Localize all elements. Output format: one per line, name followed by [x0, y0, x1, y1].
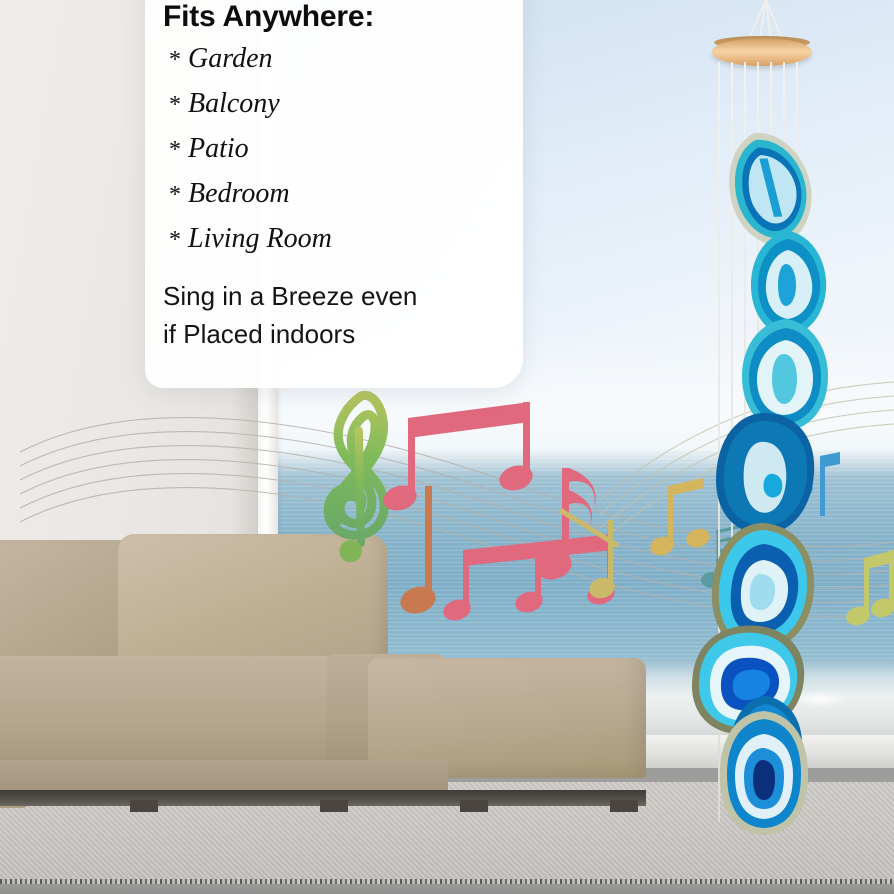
bullet-marker: * — [169, 227, 181, 253]
agate-slice — [708, 410, 826, 538]
sofa-leg — [320, 800, 348, 812]
list-item-label: Patio — [188, 133, 249, 164]
wind-chime — [690, 0, 860, 830]
tagline: Sing in a Breeze even if Placed indoors — [163, 277, 511, 353]
list-item: *Balcony — [169, 83, 523, 126]
sectional-sofa — [0, 528, 660, 828]
tagline-line-2: if Placed indoors — [163, 319, 355, 349]
product-lifestyle-image: Fits Anywhere: *Garden *Balcony *Patio *… — [0, 0, 894, 894]
tagline-line-1: Sing in a Breeze even — [163, 281, 417, 311]
agate-slice — [712, 708, 816, 838]
sofa-leg — [130, 800, 158, 812]
feature-list: *Garden *Balcony *Patio *Bedroom *Living… — [145, 38, 523, 261]
list-item-label: Garden — [188, 43, 273, 74]
sofa-leg — [460, 800, 488, 812]
list-item: *Bedroom — [169, 173, 523, 216]
feature-text-card: Fits Anywhere: *Garden *Balcony *Patio *… — [145, 0, 523, 388]
sofa-seat-left — [0, 656, 338, 766]
bullet-marker: * — [169, 182, 181, 208]
list-item: *Garden — [169, 38, 523, 81]
list-item-label: Balcony — [188, 88, 280, 119]
list-item-label: Bedroom — [188, 178, 290, 209]
list-item-label: Living Room — [188, 223, 332, 254]
list-item: *Patio — [169, 128, 523, 171]
floor — [0, 884, 894, 894]
list-item: *Living Room — [169, 218, 523, 261]
bullet-marker: * — [169, 137, 181, 163]
bullet-marker: * — [169, 47, 181, 73]
page-title: Fits Anywhere: — [163, 0, 523, 34]
bullet-marker: * — [169, 92, 181, 118]
sofa-leg — [610, 800, 638, 812]
